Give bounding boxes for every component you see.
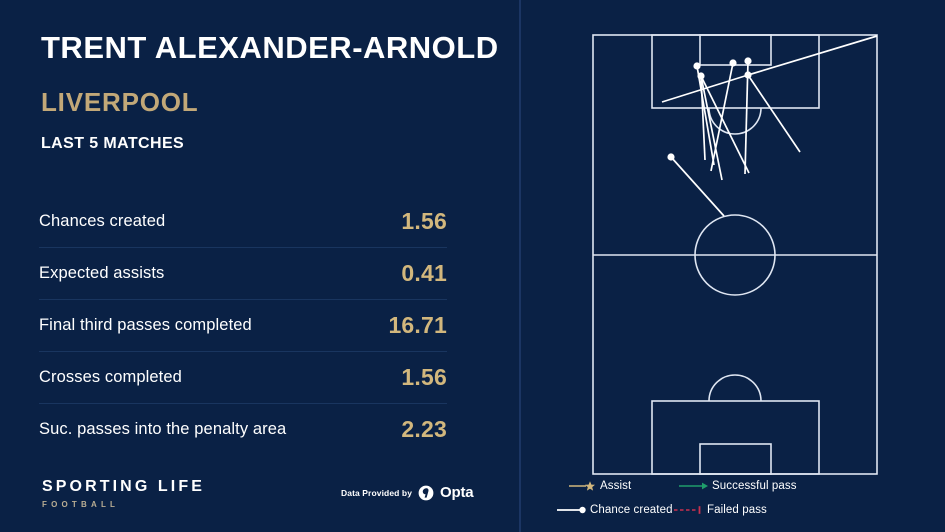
table-row: Final third passes completed 16.71 (39, 300, 447, 352)
stat-value: 16.71 (388, 312, 447, 339)
legend-item-assist: Assist (569, 480, 631, 492)
data-provider-name: Opta (440, 484, 473, 501)
pass-map-panel: Assist Successful pass Chance created (519, 0, 945, 532)
stat-label: Suc. passes into the penalty area (39, 420, 286, 439)
legend-label: Chance created (590, 504, 673, 516)
legend-label: Failed pass (707, 504, 767, 516)
page-title: TRENT ALEXANDER-ARNOLD (41, 30, 499, 66)
line-star-icon (569, 480, 597, 492)
stats-panel: TRENT ALEXANDER-ARNOLD LIVERPOOL LAST 5 … (0, 0, 519, 532)
stat-label: Chances created (39, 212, 165, 231)
infographic-root: TRENT ALEXANDER-ARNOLD LIVERPOOL LAST 5 … (0, 0, 945, 532)
pitch-diagram (519, 0, 945, 478)
stat-value: 2.23 (401, 416, 447, 443)
table-row: Crosses completed 1.56 (39, 352, 447, 404)
brand-subtitle: FOOTBALL (42, 501, 205, 509)
table-row: Chances created 1.56 (39, 196, 447, 248)
pitch-markings (593, 35, 877, 474)
data-provider-label: Data Provided by (341, 488, 412, 498)
legend: Assist Successful pass Chance created (519, 476, 945, 528)
stat-label: Final third passes completed (39, 316, 252, 335)
line-dot-icon (557, 504, 587, 516)
period-label: LAST 5 MATCHES (41, 135, 184, 153)
table-row: Suc. passes into the penalty area 2.23 (39, 404, 447, 455)
legend-label: Successful pass (712, 480, 797, 492)
legend-item-successful-pass: Successful pass (679, 480, 797, 492)
legend-item-failed-pass: Failed pass (674, 504, 767, 516)
opta-attribution: Data Provided by Opta (341, 484, 473, 501)
club-name: LIVERPOOL (41, 87, 198, 118)
stat-label: Crosses completed (39, 368, 182, 387)
opta-circle-icon (418, 485, 434, 501)
top-penalty-arc (709, 108, 761, 134)
legend-item-chance-created: Chance created (557, 504, 673, 516)
stats-table: Chances created 1.56 Expected assists 0.… (39, 196, 447, 455)
dashed-line-icon (674, 504, 704, 516)
legend-label: Assist (600, 480, 631, 492)
line-arrow-icon (679, 480, 709, 492)
table-row: Expected assists 0.41 (39, 248, 447, 300)
sporting-life-logo: SPORTING LIFE FOOTBALL (42, 479, 205, 509)
stat-value: 1.56 (401, 208, 447, 235)
stat-value: 1.56 (401, 364, 447, 391)
chance-created-passes (662, 36, 877, 216)
stat-label: Expected assists (39, 264, 164, 283)
bottom-penalty-area (652, 401, 819, 474)
brand-name: SPORTING LIFE (42, 479, 205, 495)
bottom-goal-area (700, 444, 771, 474)
bottom-penalty-arc (709, 375, 761, 401)
stat-value: 0.41 (401, 260, 447, 287)
